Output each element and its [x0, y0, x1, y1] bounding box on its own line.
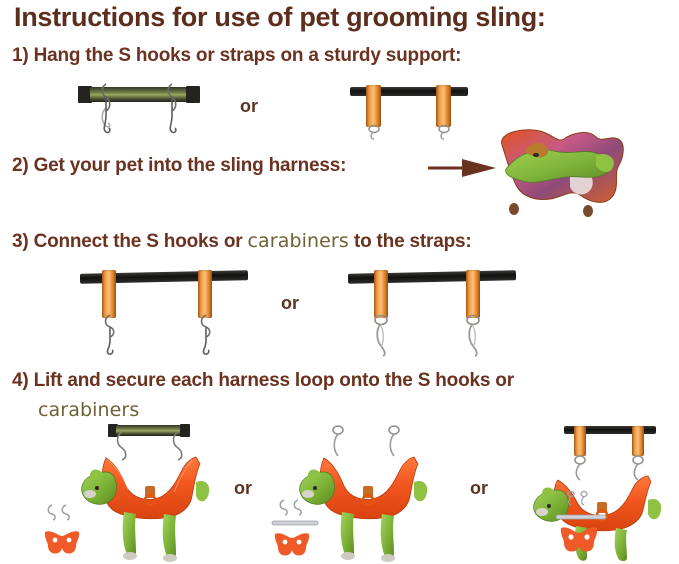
legend-carabiners-icon [564, 490, 594, 506]
carabiner-icon [372, 314, 390, 358]
legend-s-hooks-icon [276, 498, 312, 516]
legend-bar-icon [554, 512, 608, 522]
instruction-sheet: Instructions for use of pet grooming sli… [0, 0, 679, 564]
step-3-text-after: to the straps: [354, 231, 472, 252]
legend-harness-icon [272, 530, 312, 558]
step-4-accent-word: carabiners [38, 399, 139, 421]
s-hook-icon [102, 314, 118, 356]
legend-harness-icon [42, 528, 82, 556]
carabiner-icon [436, 124, 452, 140]
step-1-or-label: or [240, 96, 258, 117]
step-4-text-line1: 4) Lift and secure each harness loop ont… [12, 370, 514, 392]
s-hook-icon [164, 82, 180, 136]
step-3-option-bar-straps-with-carabiners [348, 268, 518, 358]
step-1-text: 1) Hang the S hooks or straps on a sturd… [12, 45, 461, 67]
step-4-or-label-1: or [234, 478, 252, 499]
step-1-option-olive-bar-with-s-hooks [78, 80, 208, 135]
carabiner-icon [464, 314, 482, 358]
step-2-option-pet-in-harness-photo [492, 127, 672, 219]
step-3-option-bar-straps-with-s-hooks [80, 268, 250, 358]
s-hook-icon [98, 82, 114, 136]
step-3-text-before: 3) Connect the S hooks or [12, 231, 242, 252]
carabiner-icon [366, 124, 382, 140]
page-title: Instructions for use of pet grooming sli… [14, 2, 546, 33]
step-3-or-label: or [281, 293, 299, 314]
legend-s-hooks-icon [44, 502, 80, 522]
step-1-option-black-bar-with-orange-straps [350, 80, 470, 138]
step-3-accent-word: carabiners [248, 230, 349, 252]
step-2-text: 2) Get your pet into the sling harness: [12, 155, 346, 177]
s-hook-icon [198, 314, 214, 356]
legend-harness-icon [558, 524, 600, 554]
step-3-text: 3) Connect the S hooks or carabiners to … [12, 230, 471, 253]
step-4-option-dog-in-sling-s-hooks-on-olive-bar [60, 424, 240, 562]
legend-bar-icon [270, 518, 320, 528]
step-4-option-dog-in-sling-straps-on-black-bar [508, 424, 678, 562]
arrow-right-icon [428, 157, 498, 179]
step-4-option-dog-in-sling-carabiners-only [280, 424, 450, 562]
step-4-or-label-2: or [470, 478, 488, 499]
